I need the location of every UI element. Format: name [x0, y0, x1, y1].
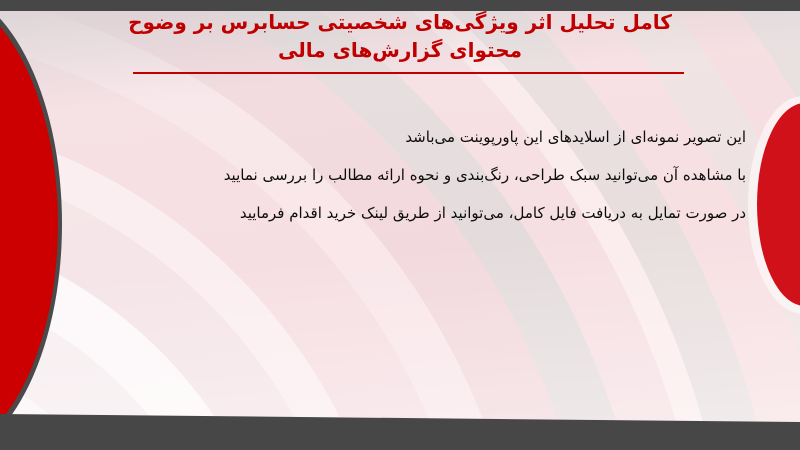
body-line-2: با مشاهده آن می‌توانید سبک طراحی، رنگ‌بن…	[46, 156, 746, 194]
frame-bottom-bar	[0, 422, 800, 450]
slide-title-line-2: محتوای گزارش‌های مالی	[40, 36, 760, 64]
slide-canvas: کامل تحلیل اثر ویژگی‌های شخصیتی حسابرس ب…	[0, 0, 800, 450]
title-underline-rule	[133, 72, 684, 74]
slide-title-line-1: کامل تحلیل اثر ویژگی‌های شخصیتی حسابرس ب…	[40, 8, 760, 36]
body-line-3: در صورت تمایل به دریافت فایل کامل، می‌تو…	[46, 194, 746, 232]
body-line-1: این تصویر نمونه‌ای از اسلایدهای این پاور…	[46, 118, 746, 156]
slide-title: کامل تحلیل اثر ویژگی‌های شخصیتی حسابرس ب…	[0, 8, 800, 64]
slide-body-text: این تصویر نمونه‌ای از اسلایدهای این پاور…	[46, 118, 746, 232]
